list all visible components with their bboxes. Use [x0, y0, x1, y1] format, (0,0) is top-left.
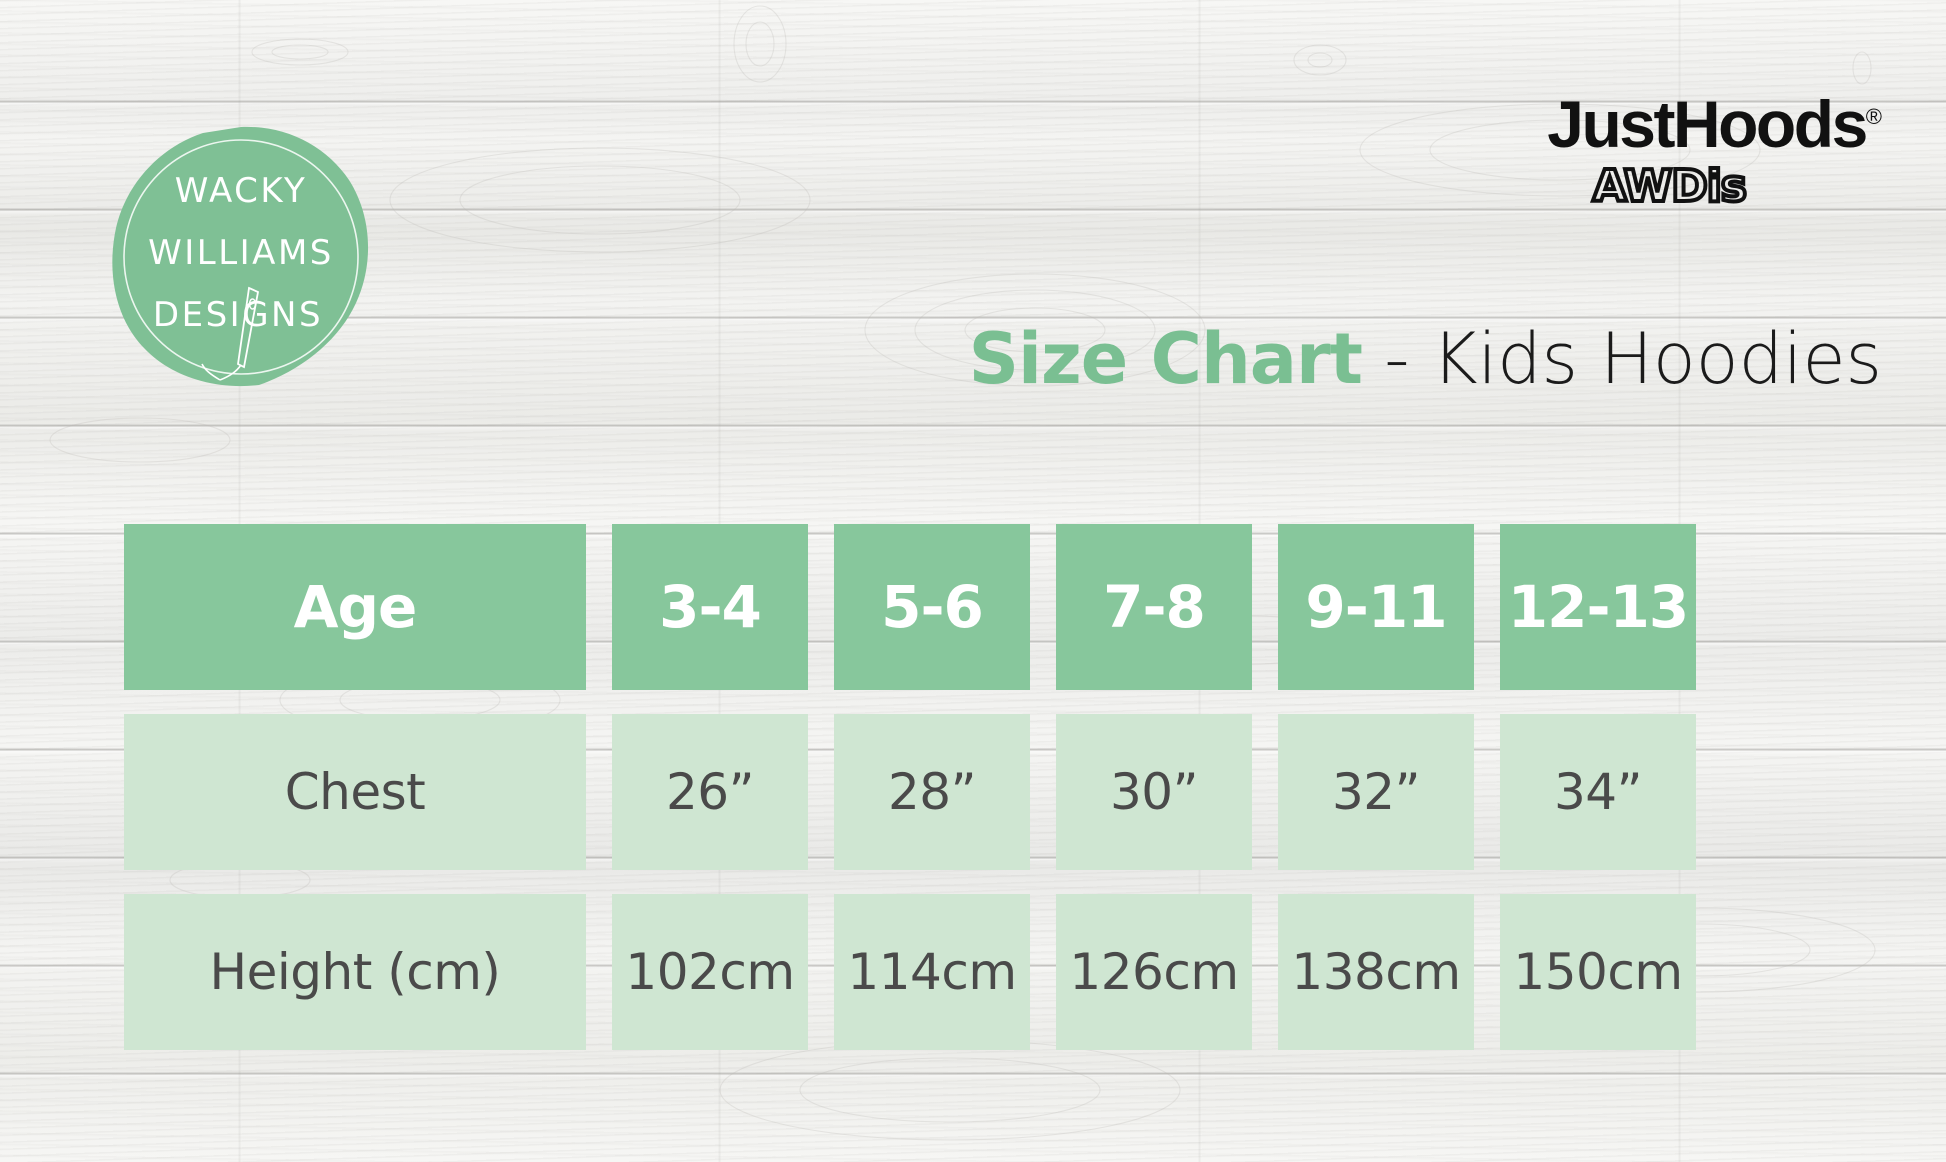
table-header-row: Age 3-4 5-6 7-8 9-11 12-13	[124, 524, 1846, 690]
cell-chest-5-text: 34”	[1554, 763, 1642, 821]
cell-chest-2: 28”	[834, 714, 1030, 870]
logo-line-1: WACKY	[175, 171, 308, 211]
cell-height-5: 150cm	[1500, 894, 1696, 1050]
row-label-height-text: Height (cm)	[210, 943, 501, 1001]
brand-lockup: JustHoods® AWDis	[1547, 92, 1882, 212]
cell-height-1-text: 102cm	[625, 943, 794, 1001]
cell-chest-3: 30”	[1056, 714, 1252, 870]
row-label-chest-text: Chest	[285, 763, 426, 821]
header-cell-size-2: 5-6	[834, 524, 1030, 690]
header-label-size-3: 7-8	[1103, 573, 1205, 641]
cell-chest-4-text: 32”	[1332, 763, 1420, 821]
header-cell-size-4: 9-11	[1278, 524, 1474, 690]
cell-height-4: 138cm	[1278, 894, 1474, 1050]
cell-height-1: 102cm	[612, 894, 808, 1050]
row-label-chest: Chest	[124, 714, 586, 870]
cell-height-2-text: 114cm	[847, 943, 1016, 1001]
awdis-wordmark: AWDis	[1593, 161, 1746, 212]
page-title-highlight: Size Chart	[969, 318, 1362, 400]
cell-chest-1: 26”	[612, 714, 808, 870]
table-row-height: Height (cm) 102cm 114cm 126cm 138cm 150c…	[124, 894, 1846, 1050]
header-label-size-1: 3-4	[659, 573, 761, 641]
logo-line-2: WILLIAMS	[148, 233, 334, 273]
header-label-size-2: 5-6	[881, 573, 983, 641]
cell-chest-4: 32”	[1278, 714, 1474, 870]
row-label-height: Height (cm)	[124, 894, 586, 1050]
justhoods-text: JustHoods	[1547, 87, 1866, 161]
justhoods-wordmark: JustHoods®	[1547, 92, 1882, 157]
cell-height-3: 126cm	[1056, 894, 1252, 1050]
table-row-chest: Chest 26” 28” 30” 32” 34”	[124, 714, 1846, 870]
registered-trademark-icon: ®	[1866, 104, 1882, 129]
header-label-age: Age	[294, 573, 417, 641]
header-cell-age: Age	[124, 524, 586, 690]
cell-height-3-text: 126cm	[1069, 943, 1238, 1001]
cell-height-4-text: 138cm	[1291, 943, 1460, 1001]
cell-height-5-text: 150cm	[1513, 943, 1682, 1001]
header-label-size-4: 9-11	[1305, 573, 1446, 641]
size-chart-page: WACKY WILLIAMS DESIGNS JustHoods® AWDis …	[0, 0, 1946, 1162]
cell-chest-5: 34”	[1500, 714, 1696, 870]
cell-chest-2-text: 28”	[888, 763, 976, 821]
header-cell-size-3: 7-8	[1056, 524, 1252, 690]
page-title: Size Chart - Kids Hoodies	[0, 318, 1882, 400]
header-cell-size-1: 3-4	[612, 524, 808, 690]
size-chart-table: Age 3-4 5-6 7-8 9-11 12-13 Chest	[124, 524, 1846, 1050]
cell-height-2: 114cm	[834, 894, 1030, 1050]
header-cell-size-5: 12-13	[1500, 524, 1696, 690]
header-label-size-5: 12-13	[1508, 573, 1689, 641]
cell-chest-3-text: 30”	[1110, 763, 1198, 821]
cell-chest-1-text: 26”	[666, 763, 754, 821]
page-title-rest: - Kids Hoodies	[1362, 318, 1882, 400]
